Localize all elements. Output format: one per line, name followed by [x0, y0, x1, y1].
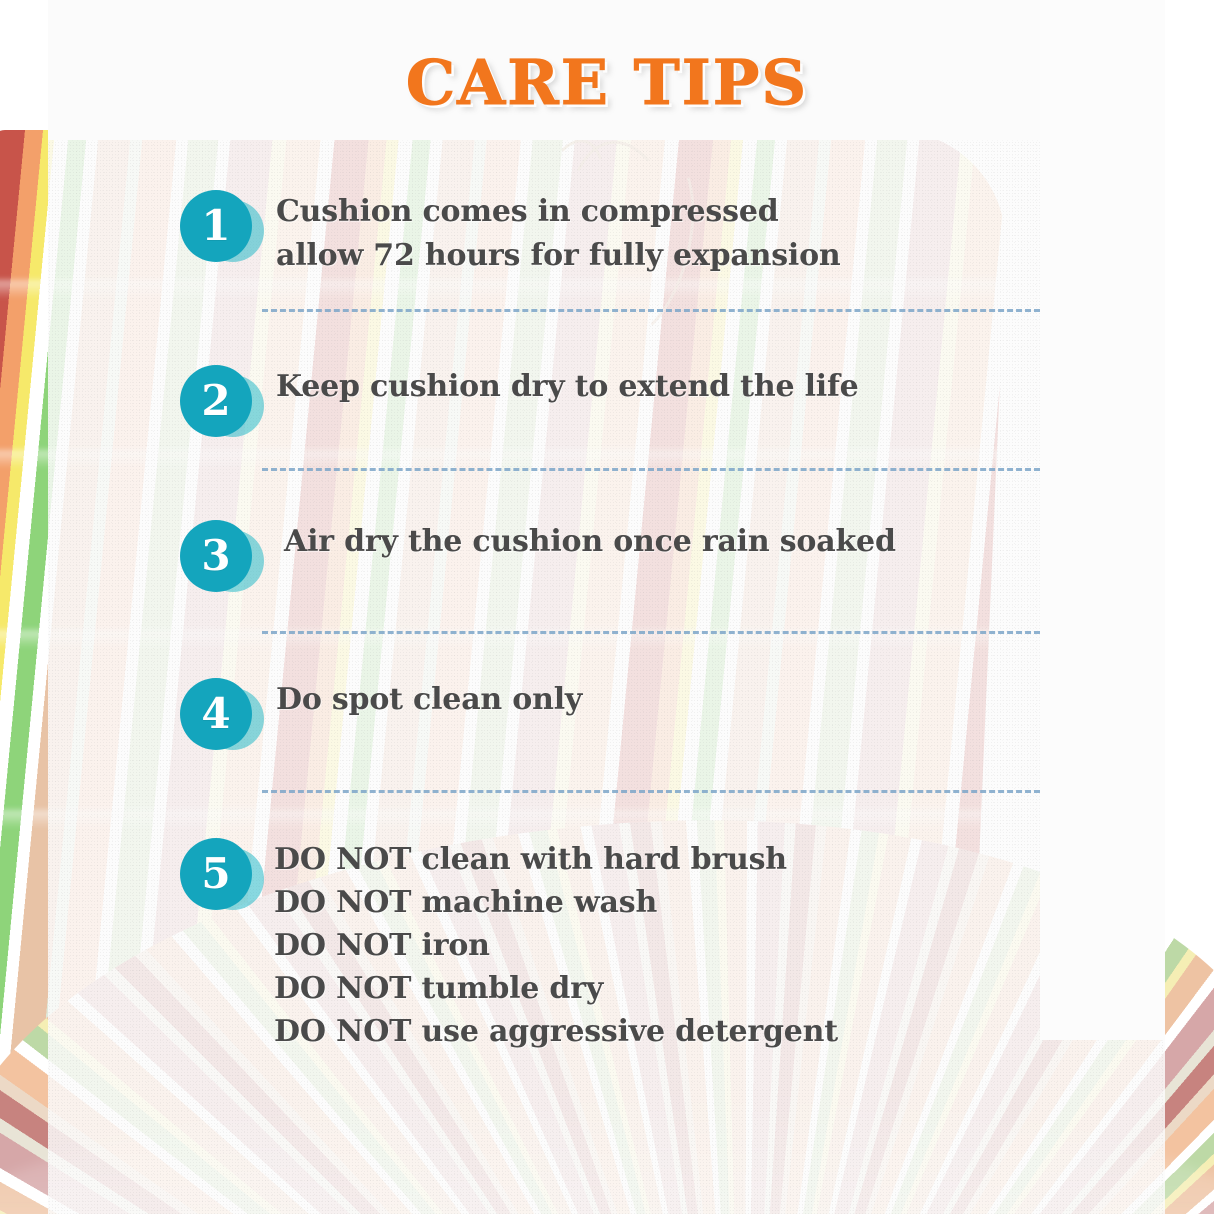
tip-item-5: 5 DO NOT clean with hard brush DO NOT ma…: [180, 838, 838, 1053]
tip-number-1: 1: [180, 190, 252, 262]
tip-badge-3: 3: [180, 520, 258, 598]
care-tips-infographic: CARE TIPS 1 Cushion comes in compressed …: [0, 0, 1214, 1214]
tip-item-4: 4 Do spot clean only: [180, 678, 582, 756]
tip-text-2: Keep cushion dry to extend the life: [276, 365, 859, 409]
tip-divider: [262, 309, 1040, 312]
tip-item-3: 3 Air dry the cushion once rain soaked: [180, 520, 896, 598]
tip-text-3: Air dry the cushion once rain soaked: [284, 520, 896, 564]
tip-text-4: Do spot clean only: [276, 678, 582, 722]
tip-badge-4: 4: [180, 678, 258, 756]
tip-divider: [262, 468, 1040, 471]
page-title: CARE TIPS: [0, 46, 1214, 119]
tip-text-5: DO NOT clean with hard brush DO NOT mach…: [274, 838, 838, 1053]
tip-item-1: 1 Cushion comes in compressed allow 72 h…: [180, 190, 841, 278]
tip-number-2: 2: [180, 365, 252, 437]
tip-badge-1: 1: [180, 190, 258, 268]
tip-number-4: 4: [180, 678, 252, 750]
tip-badge-5: 5: [180, 838, 258, 916]
tip-item-2: 2 Keep cushion dry to extend the life: [180, 365, 859, 443]
tip-text-1: Cushion comes in compressed allow 72 hou…: [276, 190, 841, 278]
tip-divider: [262, 790, 1040, 793]
tip-number-3: 3: [180, 520, 252, 592]
tip-divider: [262, 631, 1040, 634]
tip-number-5: 5: [180, 838, 252, 910]
tip-badge-2: 2: [180, 365, 258, 443]
